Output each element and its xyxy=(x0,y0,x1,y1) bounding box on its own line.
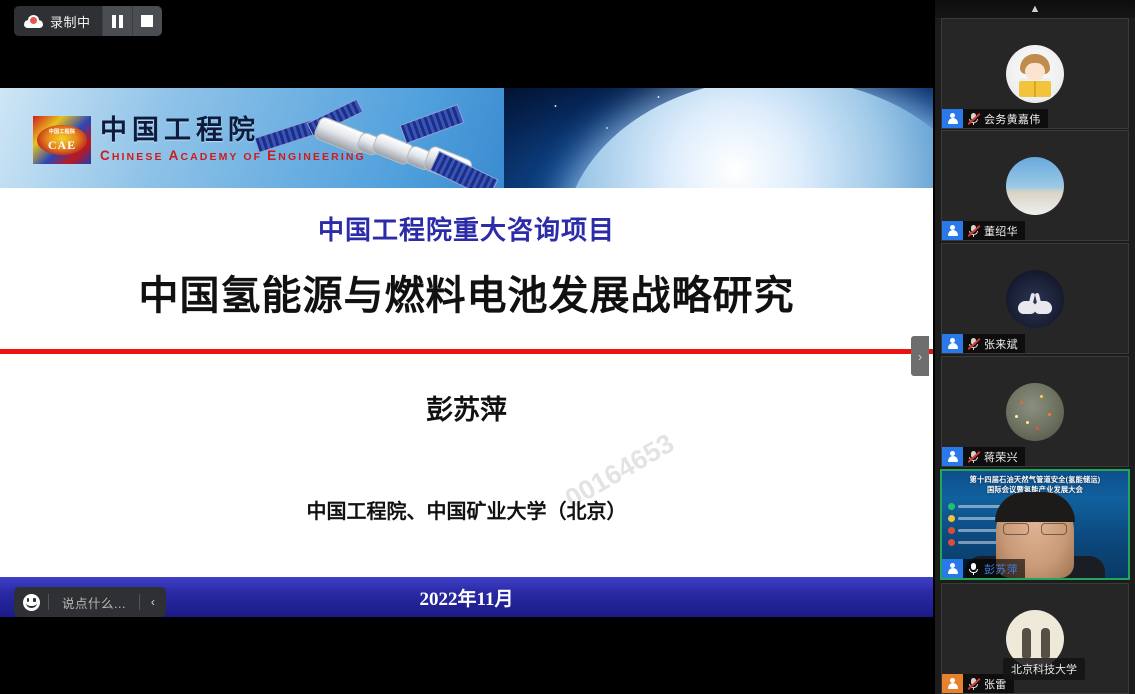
participant-nameplate: 蒋荣兴 xyxy=(942,447,1025,466)
active-speaker-tile[interactable]: 第十四届石油天然气管道安全(氢能储运) 国际会议暨氢能产业发展大会 xyxy=(940,469,1130,580)
mic-muted-icon[interactable] xyxy=(967,112,980,125)
participant-name: 彭苏萍 xyxy=(984,561,1018,577)
avatar xyxy=(1006,383,1064,441)
participant-name: 董绍华 xyxy=(984,223,1018,239)
participant-name: 张来斌 xyxy=(984,336,1018,352)
slide-divider-rule xyxy=(0,349,933,354)
mic-muted-icon[interactable] xyxy=(967,677,980,690)
cae-emblem-abbr: CAE xyxy=(33,138,91,153)
cae-name-cn: 中国工程院 xyxy=(100,117,366,145)
slide-body: 中国工程院重大咨询项目 中国氢能源与燃料电池发展战略研究 彭苏萍 中国工程院、中… xyxy=(0,188,933,617)
meeting-window: 录制中 xyxy=(0,0,1135,694)
chevron-right-icon[interactable]: › xyxy=(911,336,929,376)
participant-tile[interactable]: 董绍华 xyxy=(941,130,1129,241)
avatar xyxy=(1006,157,1064,215)
mic-muted-icon[interactable] xyxy=(967,337,980,350)
participant-nameplate: 董绍华 xyxy=(942,221,1025,240)
cae-emblem-icon: 中国工程院 CAE xyxy=(33,116,91,164)
participant-tile[interactable]: 会务黄嘉伟 xyxy=(941,18,1129,129)
slide-header-banner: 中国工程院 CAE 中国工程院 CHINESE ACADEMY OF ENGIN… xyxy=(0,88,933,188)
participant-tile[interactable]: 蒋荣兴 xyxy=(941,356,1129,467)
pause-recording-button[interactable] xyxy=(102,6,132,36)
chat-input-bar[interactable]: 说点什么... ‹ xyxy=(14,587,166,617)
participant-name: 会务黄嘉伟 xyxy=(984,111,1041,127)
slide-author: 彭苏萍 xyxy=(0,388,933,427)
chevron-up-icon[interactable]: ▲ xyxy=(935,0,1135,18)
participant-filmstrip[interactable]: ▲ 会务黄嘉伟 xyxy=(935,0,1135,694)
recording-control-bar: 录制中 xyxy=(14,6,162,36)
cae-logo: 中国工程院 CAE 中国工程院 CHINESE ACADEMY OF ENGIN… xyxy=(33,116,366,164)
mic-unmuted-icon[interactable] xyxy=(967,562,980,575)
participant-name: 蒋荣兴 xyxy=(984,449,1018,465)
chat-input[interactable]: 说点什么... xyxy=(49,593,139,612)
cae-emblem-cn: 中国工程院 xyxy=(33,128,91,135)
slide-subtitle: 中国工程院重大咨询项目 xyxy=(0,188,933,247)
presentation-slide[interactable]: 中国工程院 CAE 中国工程院 CHINESE ACADEMY OF ENGIN… xyxy=(0,88,933,617)
stop-recording-button[interactable] xyxy=(132,6,162,36)
mic-muted-icon[interactable] xyxy=(967,224,980,237)
participant-nameplate: 彭苏萍 xyxy=(942,559,1025,578)
shared-screen-stage: 录制中 xyxy=(0,0,935,694)
participant-icon xyxy=(942,109,963,128)
cae-name-en: CHINESE ACADEMY OF ENGINEERING xyxy=(100,148,366,163)
participant-icon xyxy=(942,221,963,240)
participant-nameplate: 张来斌 xyxy=(942,334,1025,353)
slide-affiliation: 中国工程院、中国矿业大学（北京） xyxy=(0,495,933,524)
cloud-recording-icon xyxy=(24,15,43,28)
mic-muted-icon[interactable] xyxy=(967,450,980,463)
avatar xyxy=(1006,45,1064,103)
avatar xyxy=(1006,270,1064,328)
slide-title: 中国氢能源与燃料电池发展战略研究 xyxy=(0,263,933,321)
slide-date: 2022年11月 xyxy=(420,584,514,611)
smiley-emoji-icon[interactable] xyxy=(14,594,48,611)
chevron-left-icon[interactable]: ‹ xyxy=(140,595,166,609)
participant-icon xyxy=(942,447,963,466)
participant-tile[interactable]: 张来斌 xyxy=(941,243,1129,354)
recording-status: 录制中 xyxy=(14,6,102,36)
recording-label: 录制中 xyxy=(50,12,91,31)
participant-icon xyxy=(942,559,963,578)
host-icon xyxy=(942,674,963,693)
participant-nameplate: 会务黄嘉伟 xyxy=(942,109,1048,128)
participant-icon xyxy=(942,334,963,353)
tooltip: 北京科技大学 xyxy=(1003,658,1085,680)
